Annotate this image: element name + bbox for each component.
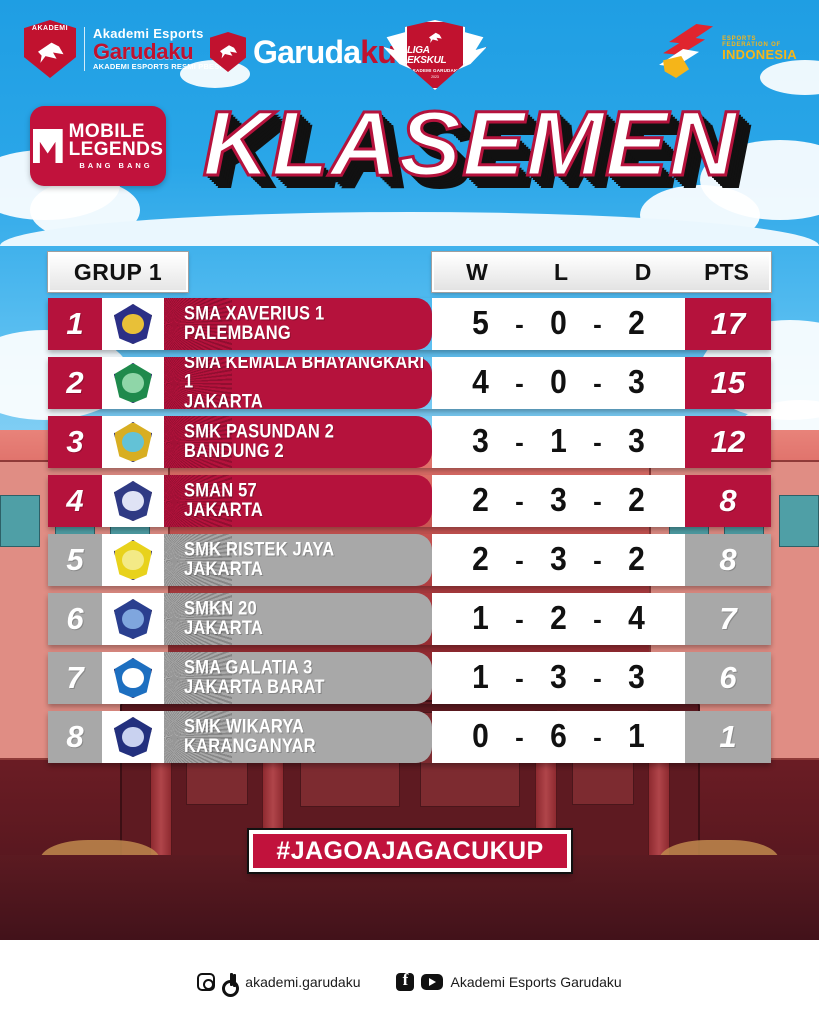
record-cell: 4-0-3 (432, 357, 685, 409)
team-name-line1: SMA KEMALA BHAYANGKARI 1 (184, 357, 432, 393)
group-label-box: GRUP 1 (48, 252, 188, 292)
social-handle-2: Akademi Esports Garudaku (450, 974, 621, 990)
liga-ekskul-logo: LIGA EKSKUL AKADEMI GARUDAKU 2023 (383, 16, 487, 94)
team-crest-cell (102, 357, 164, 409)
losses-value: 6 (531, 718, 587, 756)
esi-line3: INDONESIA (722, 48, 797, 62)
record-cell: 0-6-1 (432, 711, 685, 763)
draws-value: 3 (609, 423, 665, 461)
points-value: 15 (685, 357, 771, 409)
team-name: SMA XAVERIUS 1PALEMBANG (184, 304, 324, 344)
rank-number: 8 (48, 711, 102, 763)
social-group-instagram-tiktok[interactable]: akademi.garudaku (197, 973, 360, 992)
team-name: SMK WIKARYAKARANGANYAR (184, 717, 316, 757)
esi-logo-text: ESPORTS FEDERATION OF INDONESIA (722, 36, 797, 62)
points-value: 17 (685, 298, 771, 350)
akademi-logo-text: Akademi Esports Garudaku AKADEMI ESPORTS… (93, 27, 222, 70)
liga-name: LIGA EKSKUL (407, 46, 463, 66)
team-name-cell: SMAN 57JAKARTA (164, 475, 432, 527)
losses-value: 1 (531, 423, 587, 461)
team-crest-cell (102, 711, 164, 763)
team-name: SMAN 57JAKARTA (184, 481, 263, 521)
record-separator: - (587, 427, 609, 458)
table-header: GRUP 1 W L D PTS (0, 250, 819, 294)
losses-value: 3 (531, 482, 587, 520)
points-value: 1 (685, 711, 771, 763)
points-value: 8 (685, 475, 771, 527)
garudaku-word-white: Garuda (253, 34, 360, 70)
hashtag-banner: #JAGOAJAGACUKUP (249, 830, 571, 872)
esi-eagle-icon (657, 20, 715, 78)
rank-number: 4 (48, 475, 102, 527)
team-crest-icon (114, 717, 152, 757)
record-separator: - (509, 427, 531, 458)
record-separator: - (587, 368, 609, 399)
record-cell: 1-2-4 (432, 593, 685, 645)
team-crest-icon (114, 422, 152, 462)
table-row: 2SMA KEMALA BHAYANGKARI 1JAKARTA4-0-315 (48, 357, 771, 409)
rank-number: 2 (48, 357, 102, 409)
team-name-line2: JAKARTA (184, 393, 432, 409)
ml-line2: LEGENDS (69, 141, 164, 159)
record-cell: 5-0-2 (432, 298, 685, 350)
team-name: SMK RISTEK JAYAJAKARTA (184, 540, 334, 580)
draws-value: 2 (609, 541, 665, 579)
team-name: SMA KEMALA BHAYANGKARI 1JAKARTA (184, 357, 432, 409)
record-separator: - (509, 663, 531, 694)
akademi-line3: AKADEMI ESPORTS RESMI PBESI (93, 63, 222, 71)
footer-bar: akademi.garudaku Akademi Esports Garudak… (0, 940, 819, 1024)
facebook-icon[interactable] (396, 973, 414, 991)
wins-value: 1 (453, 600, 509, 638)
social-group-facebook-youtube[interactable]: Akademi Esports Garudaku (396, 973, 621, 991)
team-name-line1: SMK RISTEK JAYA (184, 540, 334, 560)
group-label: GRUP 1 (74, 259, 162, 286)
draws-value: 3 (609, 659, 665, 697)
team-name-line2: KARANGANYAR (184, 737, 316, 757)
record-separator: - (509, 309, 531, 340)
losses-value: 3 (531, 541, 587, 579)
akademi-shield-icon: AKADEMI (24, 20, 76, 78)
team-name-cell: SMK PASUNDAN 2BANDUNG 2 (164, 416, 432, 468)
points-value: 7 (685, 593, 771, 645)
team-name-cell: SMK RISTEK JAYAJAKARTA (164, 534, 432, 586)
table-row: 1SMA XAVERIUS 1PALEMBANG5-0-217 (48, 298, 771, 350)
garudaku-wordmark-logo: Garudaku (210, 32, 396, 72)
standings-table: GRUP 1 W L D PTS 1SMA XAVERIUS 1PALEMBAN… (0, 250, 819, 770)
header-logo-bar: AKADEMI Akademi Esports Garudaku AKADEMI… (0, 0, 819, 96)
record-separator: - (509, 722, 531, 753)
table-row: 6SMKN 20JAKARTA1-2-47 (48, 593, 771, 645)
team-crest-icon (114, 481, 152, 521)
column-header-d: D (602, 259, 684, 286)
tiktok-icon[interactable] (222, 973, 238, 992)
team-name: SMKN 20JAKARTA (184, 599, 263, 639)
losses-value: 3 (531, 659, 587, 697)
team-name-line2: JAKARTA (184, 501, 263, 521)
record-cell: 2-3-2 (432, 475, 685, 527)
draws-value: 2 (609, 482, 665, 520)
team-name-cell: SMA XAVERIUS 1PALEMBANG (164, 298, 432, 350)
points-value: 8 (685, 534, 771, 586)
garuda-bird-icon (428, 32, 443, 45)
youtube-icon[interactable] (421, 974, 443, 990)
team-name-line1: SMA XAVERIUS 1 (184, 304, 324, 324)
team-name: SMK PASUNDAN 2BANDUNG 2 (184, 422, 334, 462)
rank-number: 5 (48, 534, 102, 586)
team-name-line2: JAKARTA (184, 560, 334, 580)
record-separator: - (587, 486, 609, 517)
losses-value: 2 (531, 600, 587, 638)
team-crest-cell (102, 416, 164, 468)
record-cell: 2-3-2 (432, 534, 685, 586)
liga-subtitle: AKADEMI GARUDAKU (409, 68, 461, 73)
team-name-line2: PALEMBANG (184, 324, 324, 344)
mobile-legends-badge: MOBILE LEGENDS BANG BANG (30, 106, 166, 186)
record-separator: - (587, 604, 609, 635)
table-row: 5SMK RISTEK JAYAJAKARTA2-3-28 (48, 534, 771, 586)
team-name-line2: JAKARTA BARAT (184, 678, 325, 698)
team-crest-cell (102, 593, 164, 645)
table-body: 1SMA XAVERIUS 1PALEMBANG5-0-2172SMA KEMA… (0, 298, 819, 763)
losses-value: 0 (531, 305, 587, 343)
team-crest-cell (102, 298, 164, 350)
record-cell: 3-1-3 (432, 416, 685, 468)
social-handle-1: akademi.garudaku (245, 974, 360, 990)
team-name-cell: SMA KEMALA BHAYANGKARI 1JAKARTA (164, 357, 432, 409)
table-row: 3SMK PASUNDAN 2BANDUNG 23-1-312 (48, 416, 771, 468)
team-name-line2: JAKARTA (184, 619, 263, 639)
record-separator: - (587, 663, 609, 694)
team-crest-icon (114, 363, 152, 403)
table-row: 7SMA GALATIA 3JAKARTA BARAT1-3-36 (48, 652, 771, 704)
team-crest-cell (102, 652, 164, 704)
record-separator: - (587, 545, 609, 576)
team-name-line1: SMK WIKARYA (184, 717, 316, 737)
draws-value: 1 (609, 718, 665, 756)
team-name-cell: SMKN 20JAKARTA (164, 593, 432, 645)
draws-value: 2 (609, 305, 665, 343)
akademi-line2: Garudaku (93, 41, 222, 63)
akademi-badge-word: AKADEMI (24, 25, 76, 32)
wins-value: 3 (453, 423, 509, 461)
team-name-cell: SMK WIKARYAKARANGANYAR (164, 711, 432, 763)
garuda-bird-icon (35, 40, 65, 66)
wins-value: 1 (453, 659, 509, 697)
hashtag-text: #JAGOAJAGACUKUP (276, 837, 543, 866)
team-crest-icon (114, 658, 152, 698)
wins-value: 5 (453, 305, 509, 343)
team-name-cell: SMA GALATIA 3JAKARTA BARAT (164, 652, 432, 704)
rank-number: 7 (48, 652, 102, 704)
rank-number: 3 (48, 416, 102, 468)
garudaku-shield-icon (210, 32, 246, 72)
team-crest-cell (102, 534, 164, 586)
record-cell: 1-3-3 (432, 652, 685, 704)
wins-value: 2 (453, 541, 509, 579)
record-separator: - (509, 368, 531, 399)
liga-year: 2023 (431, 75, 439, 79)
team-name: SMA GALATIA 3JAKARTA BARAT (184, 658, 325, 698)
points-value: 12 (685, 416, 771, 468)
team-crest-cell (102, 475, 164, 527)
team-name-line1: SMK PASUNDAN 2 (184, 422, 334, 442)
wins-value: 0 (453, 718, 509, 756)
ml-line3: BANG BANG (69, 162, 164, 169)
record-separator: - (509, 604, 531, 635)
team-crest-icon (114, 599, 152, 639)
draws-value: 4 (609, 600, 665, 638)
page-title: KLASEMEN (203, 92, 738, 197)
mobile-legends-wordmark: MOBILE LEGENDS BANG BANG (69, 123, 164, 170)
column-header-w: W (434, 259, 520, 286)
divider (84, 27, 85, 71)
garudaku-wordmark: Garudaku (253, 34, 396, 71)
team-name-line2: BANDUNG 2 (184, 442, 334, 462)
record-separator: - (509, 486, 531, 517)
team-name-line1: SMKN 20 (184, 599, 263, 619)
standings-poster: AKADEMI Akademi Esports Garudaku AKADEMI… (0, 0, 819, 1024)
garuda-bird-icon (218, 44, 238, 61)
losses-value: 0 (531, 364, 587, 402)
draws-value: 3 (609, 364, 665, 402)
rank-number: 1 (48, 298, 102, 350)
record-separator: - (587, 722, 609, 753)
record-separator: - (587, 309, 609, 340)
team-name-line1: SMA GALATIA 3 (184, 658, 325, 678)
points-value: 6 (685, 652, 771, 704)
team-crest-icon (114, 540, 152, 580)
esports-federation-indonesia-logo: ESPORTS FEDERATION OF INDONESIA (657, 20, 797, 78)
team-name-line1: SMAN 57 (184, 481, 263, 501)
mobile-legends-m-icon (33, 129, 63, 163)
rank-number: 6 (48, 593, 102, 645)
instagram-icon[interactable] (197, 973, 215, 991)
column-header-l: L (520, 259, 602, 286)
record-separator: - (509, 545, 531, 576)
column-header-pts: PTS (684, 259, 769, 286)
liga-shield-icon: LIGA EKSKUL AKADEMI GARUDAKU 2023 (405, 20, 465, 90)
team-crest-icon (114, 304, 152, 344)
akademi-esports-logo: AKADEMI Akademi Esports Garudaku AKADEMI… (24, 20, 222, 78)
column-header-box: W L D PTS (432, 252, 771, 292)
table-row: 8SMK WIKARYAKARANGANYAR0-6-11 (48, 711, 771, 763)
wins-value: 2 (453, 482, 509, 520)
table-row: 4SMAN 57JAKARTA2-3-28 (48, 475, 771, 527)
wins-value: 4 (453, 364, 509, 402)
